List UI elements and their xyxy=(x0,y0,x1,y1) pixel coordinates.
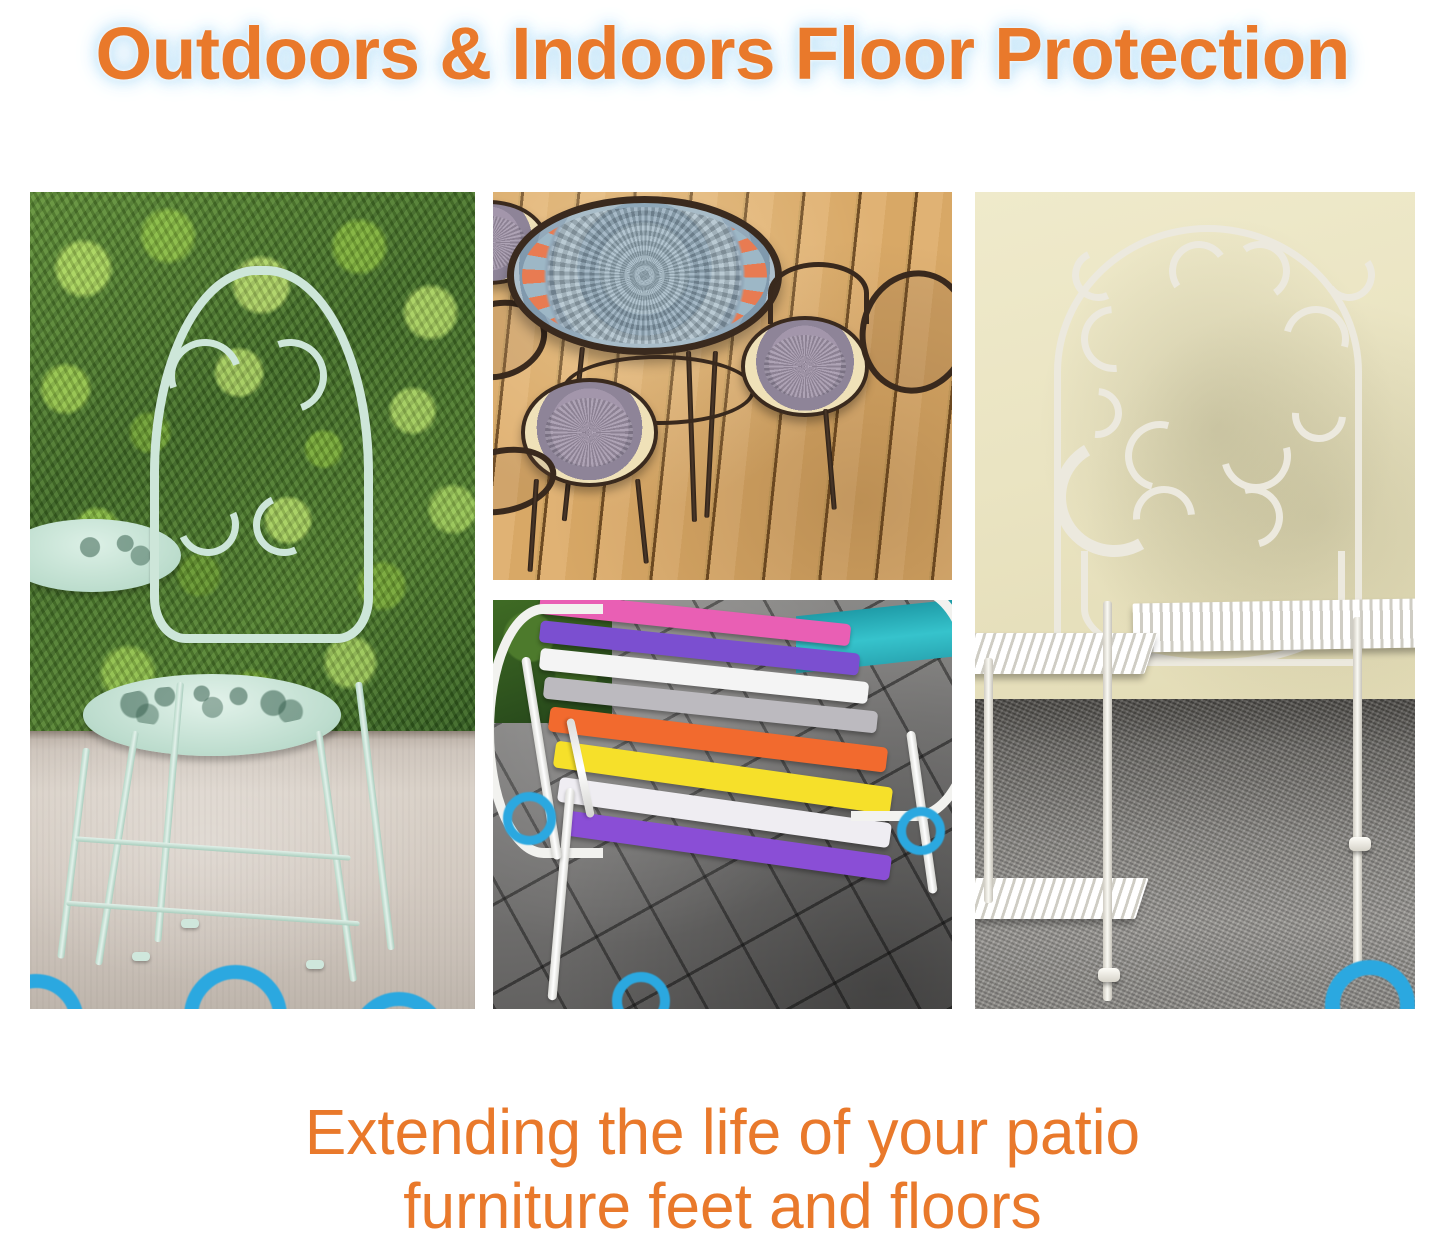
scene-mosaic-deck xyxy=(493,192,952,580)
foot-cap-3 xyxy=(181,919,199,928)
mosaic-chair-seat-right xyxy=(741,316,870,417)
caption-line-2: furniture feet and floors xyxy=(22,1169,1424,1243)
mosaic-chair-right-arm xyxy=(768,262,869,324)
scene-rainbow-bench xyxy=(493,600,952,1009)
bench-post-right xyxy=(1353,617,1362,976)
bench-foot-ring-2 xyxy=(897,807,945,855)
page-title: Outdoors & Indoors Floor Protection xyxy=(95,14,1349,94)
mosaic-table-top xyxy=(507,196,782,355)
side-shelf-lower xyxy=(975,878,1149,919)
gallery-photo-rainbow-bench[interactable] xyxy=(493,600,952,1009)
bench-seat-slats xyxy=(1133,598,1415,652)
foot-cap-1 xyxy=(132,952,150,961)
caption-line-1: Extending the life of your patio xyxy=(22,1095,1424,1169)
bench-foot-cap-right xyxy=(1349,837,1371,851)
scene-hedge-chair xyxy=(30,192,475,1009)
bench-frame-right-arm xyxy=(851,600,952,821)
gallery-photo-mosaic-set[interactable] xyxy=(493,192,952,580)
grey-carpet-floor xyxy=(975,699,1415,1009)
bench-foot-cap-left xyxy=(1098,968,1120,982)
side-shelf-top xyxy=(975,633,1158,674)
bench-post-center xyxy=(1103,601,1112,1001)
product-photo-gallery xyxy=(30,192,1415,1009)
gallery-photo-white-bench[interactable] xyxy=(975,192,1415,1009)
scene-white-bench xyxy=(975,192,1415,1009)
bench-foot-ring-1 xyxy=(503,792,556,845)
footer-caption: Extending the life of your patio furnitu… xyxy=(0,1095,1445,1243)
gallery-photo-hedge-chair[interactable] xyxy=(30,192,475,1009)
foot-cap-2 xyxy=(306,960,324,969)
mint-folding-table-top xyxy=(83,674,341,756)
header-banner: Outdoors & Indoors Floor Protection xyxy=(0,0,1445,108)
shelf-post-left xyxy=(984,658,993,903)
chair-backrest xyxy=(150,266,373,643)
